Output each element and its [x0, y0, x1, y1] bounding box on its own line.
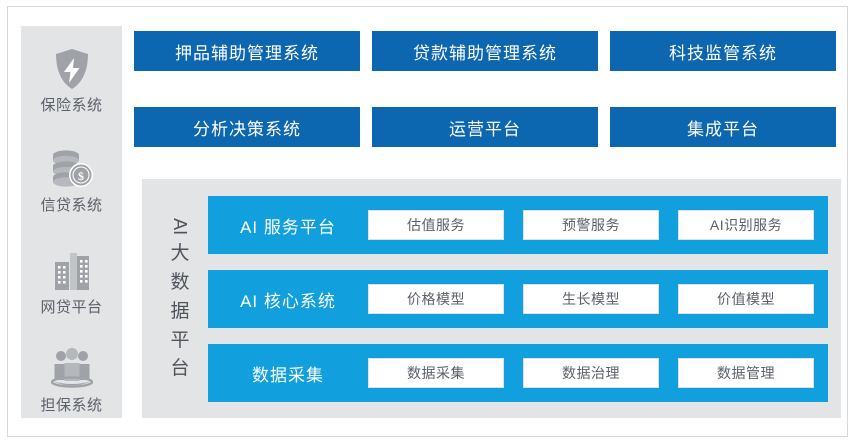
ai-bigdata-platform-panel: AI 大 数 据 平 台 AI 服务平台 估值服务 预警服务 AI识别服务 AI… — [142, 179, 841, 418]
chip-price-model[interactable]: 价格模型 — [368, 284, 504, 314]
buildings-icon — [21, 248, 122, 294]
system-button-collateral-management[interactable]: 押品辅助管理系统 — [134, 31, 360, 71]
sidebar-item-label: 网贷平台 — [21, 300, 122, 315]
svg-text:$: $ — [78, 169, 84, 183]
platform-label-char-0: 大 — [170, 240, 189, 269]
architecture-diagram: 保险系统 $ 信贷 — [7, 6, 848, 437]
sidebar-item-insurance[interactable]: 保险系统 — [21, 46, 122, 113]
tier-title: AI 核心系统 — [208, 287, 368, 312]
tier-row-data-collection: 数据采集 数据采集 数据治理 数据管理 — [208, 344, 828, 402]
system-button-analysis-decision[interactable]: 分析决策系统 — [134, 107, 360, 147]
tier-chip-group: 数据采集 数据治理 数据管理 — [368, 358, 828, 388]
platform-label-char-4: 台 — [170, 355, 189, 384]
sidebar: 保险系统 $ 信贷 — [21, 26, 122, 418]
chip-ai-recognition-service[interactable]: AI识别服务 — [678, 210, 814, 240]
tier-title: AI 服务平台 — [208, 213, 368, 238]
top-systems-row-2: 分析决策系统 运营平台 集成平台 — [134, 107, 836, 147]
system-button-operations-platform[interactable]: 运营平台 — [372, 107, 598, 147]
chip-valuation-service[interactable]: 估值服务 — [368, 210, 504, 240]
platform-label-char-2: 据 — [170, 298, 189, 327]
shield-bolt-icon — [21, 46, 122, 92]
platform-label-char-1: 数 — [170, 269, 189, 298]
chip-data-governance[interactable]: 数据治理 — [523, 358, 659, 388]
tier-row-ai-service-platform: AI 服务平台 估值服务 预警服务 AI识别服务 — [208, 196, 828, 254]
sidebar-item-online-lending[interactable]: 网贷平台 — [21, 248, 122, 315]
chip-data-collection[interactable]: 数据采集 — [368, 358, 504, 388]
top-systems-row-1: 押品辅助管理系统 贷款辅助管理系统 科技监管系统 — [134, 31, 836, 71]
tier-chip-group: 估值服务 预警服务 AI识别服务 — [368, 210, 828, 240]
chip-value-model[interactable]: 价值模型 — [678, 284, 814, 314]
sidebar-item-label: 信贷系统 — [21, 198, 122, 213]
chip-alert-service[interactable]: 预警服务 — [523, 210, 659, 240]
sidebar-item-guarantee[interactable]: 担保系统 — [21, 346, 122, 413]
platform-label-ai: AI — [166, 218, 193, 235]
coins-dollar-icon: $ — [21, 146, 122, 192]
system-button-integration-platform[interactable]: 集成平台 — [610, 107, 836, 147]
sidebar-item-label: 担保系统 — [21, 398, 122, 413]
system-button-tech-supervision[interactable]: 科技监管系统 — [610, 31, 836, 71]
people-group-icon — [21, 346, 122, 392]
tier-chip-group: 价格模型 生长模型 价值模型 — [368, 284, 828, 314]
platform-label-char-3: 平 — [170, 327, 189, 356]
tier-title: 数据采集 — [208, 361, 368, 386]
platform-vertical-label: AI 大 数 据 平 台 — [154, 191, 206, 406]
sidebar-item-label: 保险系统 — [21, 98, 122, 113]
tier-row-ai-core-system: AI 核心系统 价格模型 生长模型 价值模型 — [208, 270, 828, 328]
system-button-loan-management[interactable]: 贷款辅助管理系统 — [372, 31, 598, 71]
sidebar-item-credit[interactable]: $ 信贷系统 — [21, 146, 122, 213]
chip-growth-model[interactable]: 生长模型 — [523, 284, 659, 314]
chip-data-management[interactable]: 数据管理 — [678, 358, 814, 388]
